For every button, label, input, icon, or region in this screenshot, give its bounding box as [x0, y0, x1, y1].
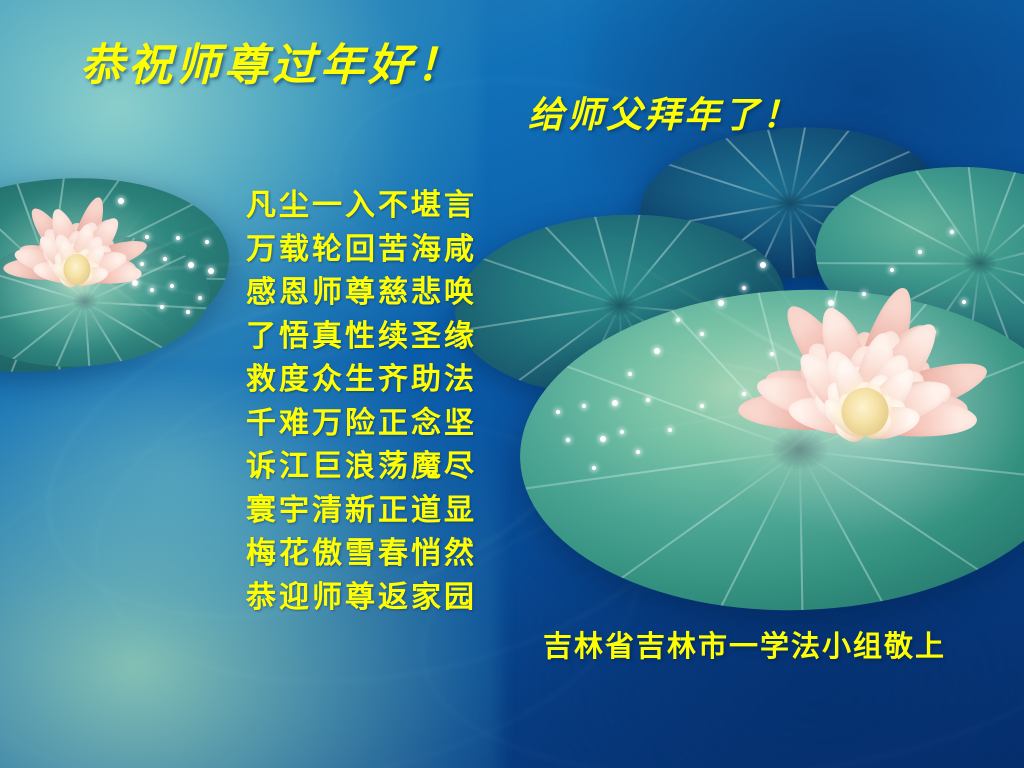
sparkle-icon: [628, 372, 632, 376]
lily-pad-vein-icon: [828, 183, 980, 265]
poem-line: 了悟真性续圣缘: [246, 315, 477, 359]
sparkle-icon: [582, 404, 586, 408]
sparkle-icon: [918, 250, 922, 254]
sparkle-icon: [718, 300, 724, 306]
lily-pad-vein-icon: [882, 151, 980, 264]
sparkle-icon: [186, 310, 190, 314]
lily-pad-vein-icon: [501, 206, 620, 306]
poem-block: 凡尘一入不堪言万载轮回苦海咸感恩师尊慈悲唤了悟真性续圣缘救度众生齐助法千难万险正…: [246, 184, 477, 619]
page-title: 恭祝师尊过年好！: [80, 44, 464, 88]
sparkle-icon: [646, 398, 650, 402]
sparkle-icon: [890, 268, 894, 272]
sparkle-icon: [592, 466, 596, 470]
sparkle-icon: [556, 410, 560, 414]
lotus-center-icon: [842, 388, 889, 436]
sparkle-icon: [950, 230, 954, 234]
poem-line: 恭迎师尊返家园: [246, 576, 477, 620]
sparkle-icon: [676, 318, 680, 322]
sparkle-icon: [742, 286, 746, 290]
lotus-flower-icon: [2, 198, 152, 338]
sparkle-icon: [205, 240, 209, 244]
sparkle-icon: [160, 305, 164, 309]
poem-line: 诉江巨浪荡魔尽: [246, 445, 477, 489]
poem-line: 千难万险正念坚: [246, 402, 477, 446]
sparkle-icon: [612, 400, 618, 406]
poem-line: 凡尘一入不堪言: [246, 184, 477, 228]
sparkle-icon: [700, 332, 704, 336]
sparkle-icon: [668, 428, 672, 432]
lotus-flower-icon: [735, 300, 995, 520]
sparkle-icon: [566, 438, 570, 442]
subtitle: 给师父拜年了！: [528, 98, 801, 134]
poem-line: 感恩师尊慈悲唤: [246, 271, 477, 315]
poem-line: 救度众生齐助法: [246, 358, 477, 402]
sparkle-icon: [636, 450, 640, 454]
poem-line: 寰宇清新正道显: [246, 489, 477, 533]
lily-pad-vein-icon: [808, 263, 980, 265]
poem-line: 梅花傲雪春悄然: [246, 532, 477, 576]
sparkle-icon: [208, 268, 214, 274]
greeting-card: 恭祝师尊过年好！ 给师父拜年了！ 凡尘一入不堪言万载轮回苦海咸感恩师尊慈悲唤了悟…: [0, 0, 1024, 768]
lotus-center-icon: [64, 254, 91, 285]
signature-text: 吉林省吉林市一学法小组敬上: [543, 632, 946, 661]
poem-line: 万载轮回苦海咸: [246, 228, 477, 272]
